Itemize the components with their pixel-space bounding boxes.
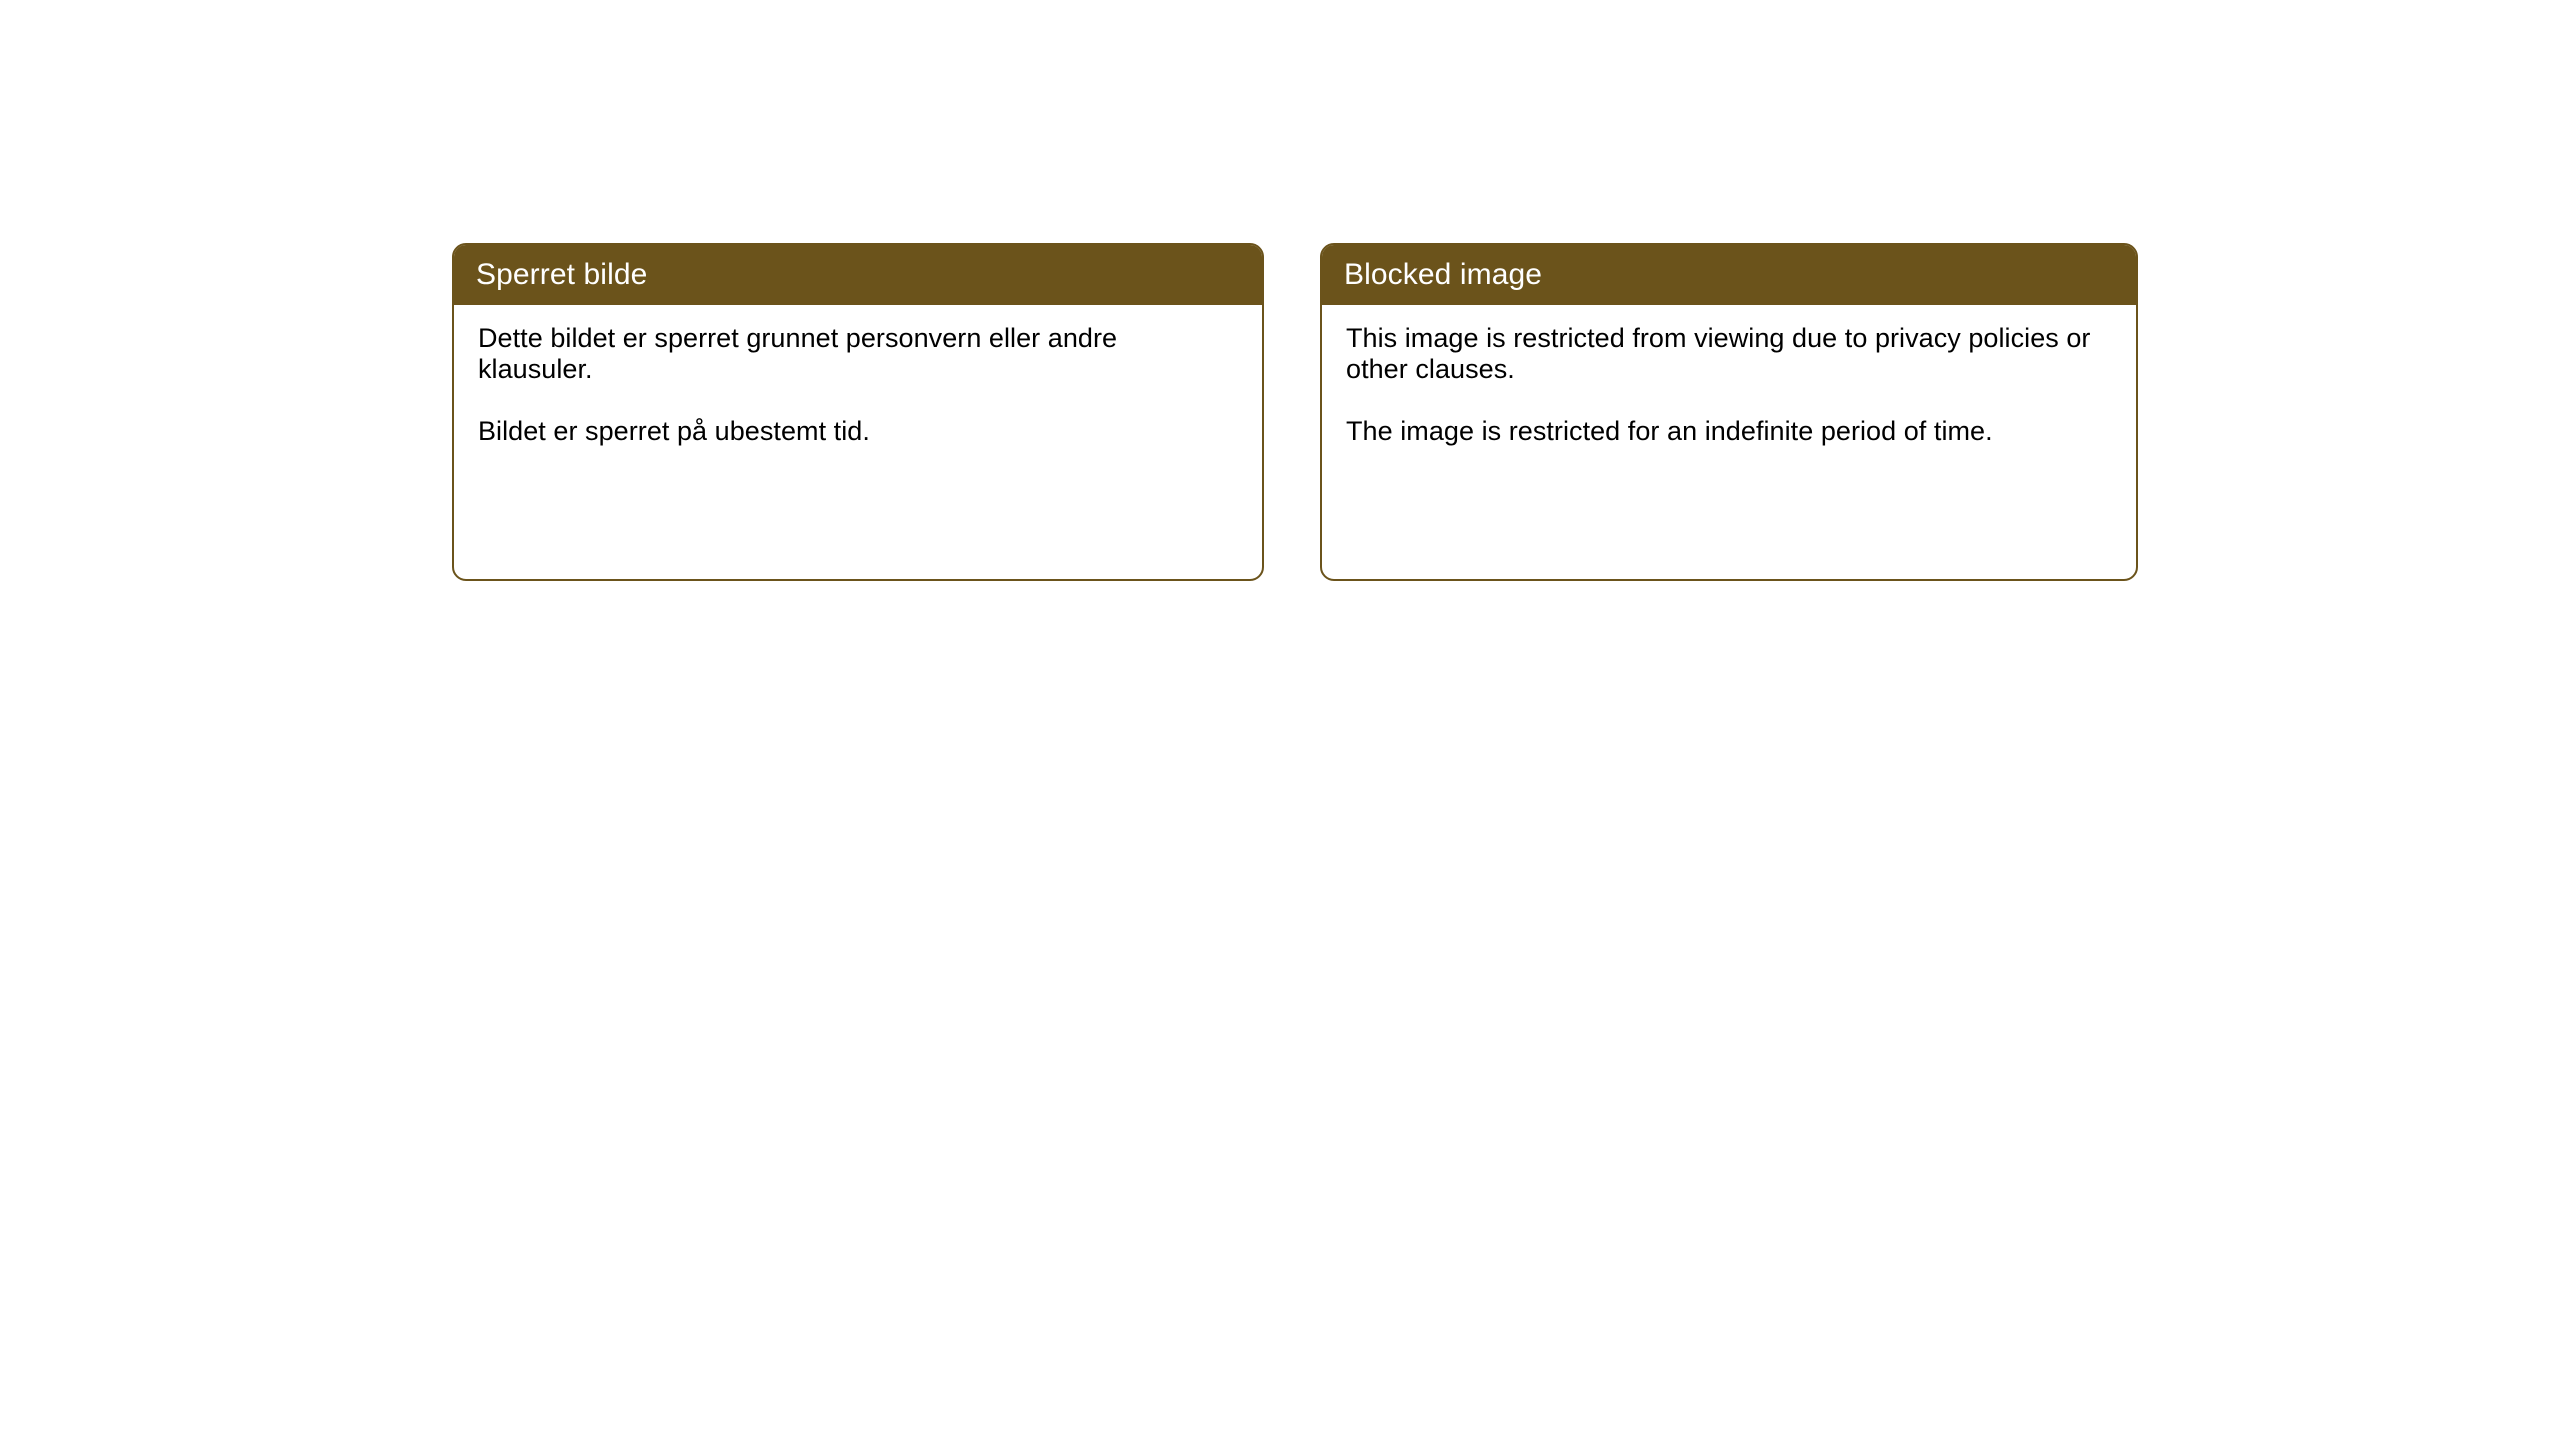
card-paragraph-secondary-english: The image is restricted for an indefinit… <box>1346 416 2112 447</box>
card-body-english: This image is restricted from viewing du… <box>1322 305 2136 447</box>
card-paragraph-primary-norwegian: Dette bildet er sperret grunnet personve… <box>478 323 1238 386</box>
page-root: Sperret bilde Dette bildet er sperret gr… <box>0 0 2560 1440</box>
card-header-norwegian: Sperret bilde <box>454 245 1262 305</box>
paragraph-spacer <box>1346 386 2112 416</box>
blocked-image-notice-card-english: Blocked image This image is restricted f… <box>1320 243 2138 581</box>
card-paragraph-secondary-norwegian: Bildet er sperret på ubestemt tid. <box>478 416 1238 447</box>
card-paragraph-primary-english: This image is restricted from viewing du… <box>1346 323 2112 386</box>
card-header-english: Blocked image <box>1322 245 2136 305</box>
card-title-norwegian: Sperret bilde <box>476 260 647 290</box>
card-title-english: Blocked image <box>1344 260 1542 290</box>
paragraph-spacer <box>478 386 1238 416</box>
card-body-norwegian: Dette bildet er sperret grunnet personve… <box>454 305 1262 447</box>
blocked-image-notice-card-norwegian: Sperret bilde Dette bildet er sperret gr… <box>452 243 1264 581</box>
